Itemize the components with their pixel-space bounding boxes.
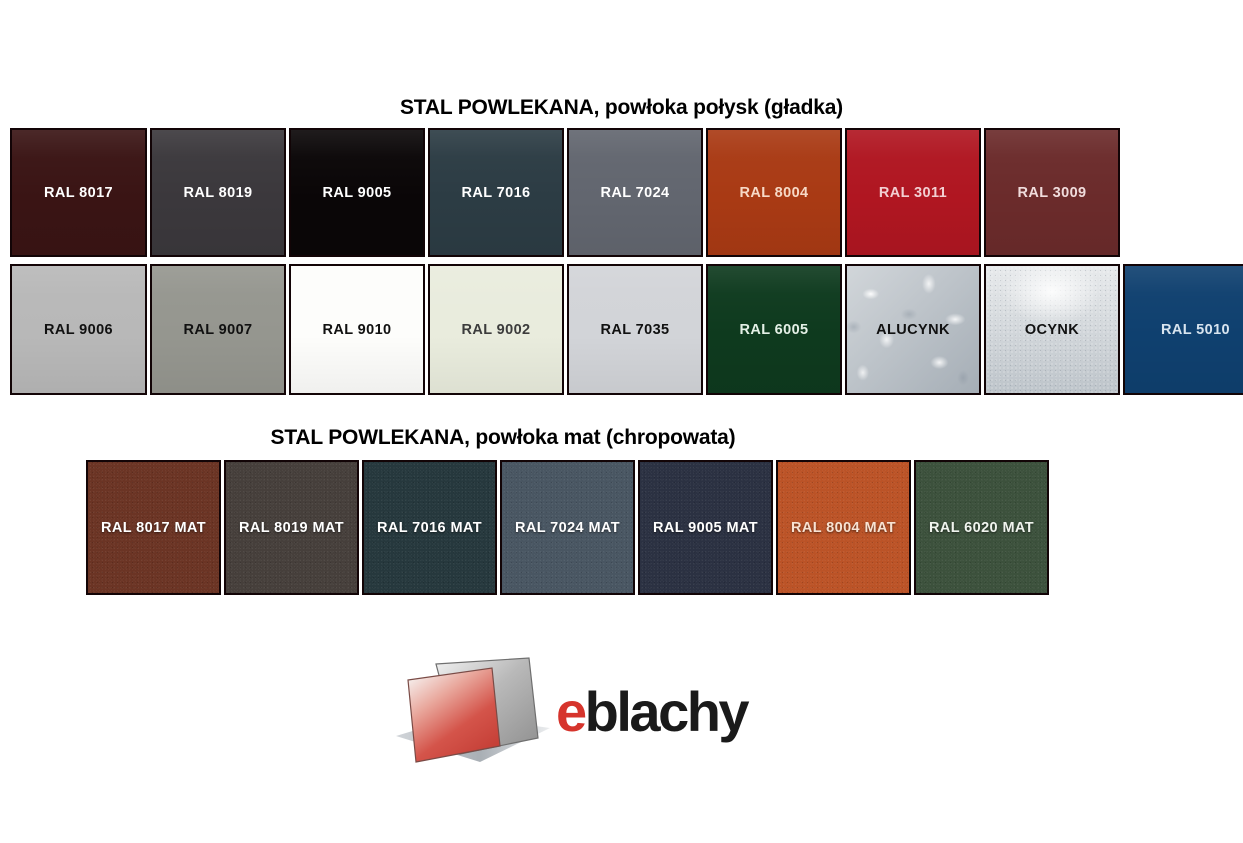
swatch-label: RAL 8017 MAT bbox=[101, 520, 206, 536]
color-swatch[interactable]: RAL 7024 MAT bbox=[500, 460, 635, 595]
color-swatch[interactable]: ALUCYNK bbox=[845, 264, 981, 395]
swatch-label: RAL 9002 bbox=[461, 322, 530, 338]
color-swatch[interactable]: RAL 9007 bbox=[150, 264, 286, 395]
swatch-row-mat: RAL 8017 MATRAL 8019 MATRAL 7016 MATRAL … bbox=[86, 460, 1052, 595]
color-swatch[interactable]: RAL 9010 bbox=[289, 264, 425, 395]
color-swatch[interactable]: RAL 7016 MAT bbox=[362, 460, 497, 595]
color-swatch[interactable]: RAL 8019 MAT bbox=[224, 460, 359, 595]
swatch-label: RAL 9007 bbox=[183, 322, 252, 338]
color-swatch[interactable]: RAL 9005 bbox=[289, 128, 425, 257]
color-swatch[interactable]: OCYNK bbox=[984, 264, 1120, 395]
color-swatch[interactable]: RAL 6005 bbox=[706, 264, 842, 395]
swatch-label: RAL 9010 bbox=[322, 322, 391, 338]
color-swatch[interactable]: RAL 7016 bbox=[428, 128, 564, 257]
swatch-label: RAL 8019 bbox=[183, 185, 252, 201]
swatch-label: RAL 7016 bbox=[461, 185, 530, 201]
swatch-label: RAL 9005 bbox=[322, 185, 391, 201]
logo-wordmark: eblachy bbox=[556, 684, 747, 740]
swatch-label: RAL 9006 bbox=[44, 322, 113, 338]
swatch-label: RAL 8004 bbox=[739, 185, 808, 201]
color-swatch[interactable]: RAL 9002 bbox=[428, 264, 564, 395]
section-title-mat: STAL POWLEKANA, powłoka mat (chropowata) bbox=[0, 426, 1006, 450]
logo-word-blachy: blachy bbox=[585, 680, 747, 743]
swatch-label: RAL 7035 bbox=[600, 322, 669, 338]
swatch-label: RAL 5010 bbox=[1161, 322, 1230, 338]
color-swatch[interactable]: RAL 8017 MAT bbox=[86, 460, 221, 595]
swatch-label: OCYNK bbox=[1025, 322, 1079, 338]
swatch-label: RAL 8004 MAT bbox=[791, 520, 896, 536]
color-swatch[interactable]: RAL 5010 bbox=[1123, 264, 1243, 395]
section-title-gloss: STAL POWLEKANA, powłoka połysk (gładka) bbox=[0, 96, 1243, 120]
swatch-label: RAL 6020 MAT bbox=[929, 520, 1034, 536]
color-swatch[interactable]: RAL 9005 MAT bbox=[638, 460, 773, 595]
swatch-label: RAL 3011 bbox=[879, 185, 947, 201]
swatch-label: ALUCYNK bbox=[876, 322, 950, 338]
swatch-label: RAL 7016 MAT bbox=[377, 520, 482, 536]
color-swatch[interactable]: RAL 3011 bbox=[845, 128, 981, 257]
color-swatch[interactable]: RAL 7035 bbox=[567, 264, 703, 395]
swatch-label: RAL 6005 bbox=[739, 322, 808, 338]
swatch-label: RAL 8019 MAT bbox=[239, 520, 344, 536]
eblachy-logo: eblachy bbox=[388, 650, 788, 780]
color-swatch[interactable]: RAL 3009 bbox=[984, 128, 1120, 257]
color-swatch[interactable]: RAL 9006 bbox=[10, 264, 147, 395]
logo-word-e: e bbox=[556, 680, 585, 743]
color-swatch[interactable]: RAL 8004 bbox=[706, 128, 842, 257]
metal-sheets-icon bbox=[388, 650, 558, 775]
color-swatch[interactable]: RAL 7024 bbox=[567, 128, 703, 257]
swatch-row-gloss-2: RAL 9006RAL 9007RAL 9010RAL 9002RAL 7035… bbox=[10, 264, 1243, 395]
color-swatch[interactable]: RAL 8004 MAT bbox=[776, 460, 911, 595]
swatch-label: RAL 9005 MAT bbox=[653, 520, 758, 536]
color-swatch[interactable]: RAL 6020 MAT bbox=[914, 460, 1049, 595]
color-swatch[interactable]: RAL 8017 bbox=[10, 128, 147, 257]
swatch-label: RAL 7024 bbox=[600, 185, 669, 201]
swatch-label: RAL 7024 MAT bbox=[515, 520, 620, 536]
swatch-label: RAL 8017 bbox=[44, 185, 113, 201]
swatch-row-gloss-1: RAL 8017RAL 8019RAL 9005RAL 7016RAL 7024… bbox=[10, 128, 1123, 257]
color-swatch[interactable]: RAL 8019 bbox=[150, 128, 286, 257]
swatch-label: RAL 3009 bbox=[1017, 185, 1086, 201]
